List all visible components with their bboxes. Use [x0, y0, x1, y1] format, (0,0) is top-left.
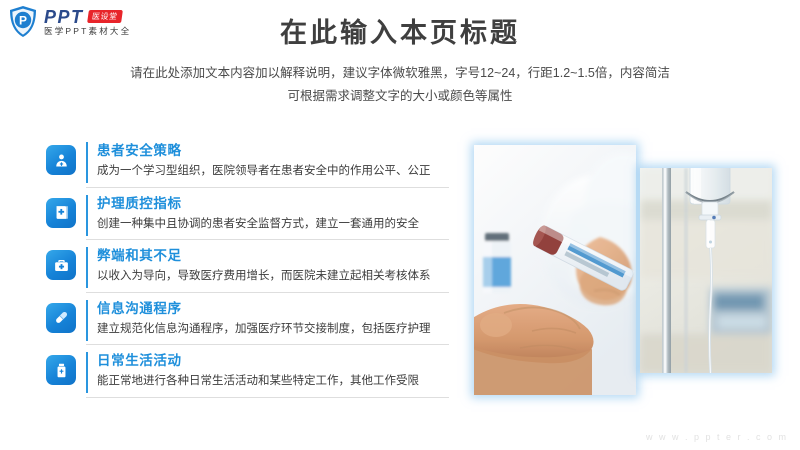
list-item-desc: 建立规范化信息沟通程序，加强医疗环节交接制度，包括医疗护理 — [97, 321, 451, 338]
list-item-desc: 能正常地进行各种日常生活活动和某些特定工作，其他工作受限 — [97, 373, 451, 390]
feature-list: 患者安全策略 成为一个学习型组织，医院领导者在患者安全中的作用公平、公正 护理质… — [46, 142, 451, 405]
list-item-body: 护理质控指标 创建一种集中且协调的患者安全监督方式，建立一套通用的安全 — [86, 195, 451, 236]
list-item[interactable]: 信息沟通程序 建立规范化信息沟通程序，加强医疗环节交接制度，包括医疗护理 — [46, 300, 451, 353]
slide-canvas: P PPT 医设堂 医学PPT素材大全 在此输入本页标题 请在此处添加文本内容加… — [0, 0, 800, 450]
list-item[interactable]: 弊端和其不足 以收入为导向，导致医疗费用增长，而医院未建立起相关考核体系 — [46, 247, 451, 300]
list-item-body: 信息沟通程序 建立规范化信息沟通程序，加强医疗环节交接制度，包括医疗护理 — [86, 300, 451, 341]
list-item-body: 弊端和其不足 以收入为导向，导致医疗费用增长，而医院未建立起相关考核体系 — [86, 247, 451, 288]
subtitle-line-1: 请在此处添加文本内容加以解释说明，建议字体微软雅黑，字号12~24，行距1.2~… — [100, 62, 700, 85]
medical-book-icon — [46, 198, 76, 228]
list-item-title: 患者安全策略 — [97, 142, 451, 160]
page-title: 在此输入本页标题 — [0, 17, 800, 49]
list-item-title: 信息沟通程序 — [97, 300, 451, 318]
list-item[interactable]: 护理质控指标 创建一种集中且协调的患者安全监督方式，建立一套通用的安全 — [46, 195, 451, 248]
list-item-divider — [86, 292, 449, 293]
list-item-body: 日常生活活动 能正常地进行各种日常生活活动和某些特定工作，其他工作受限 — [86, 352, 451, 393]
medical-kit-icon — [46, 250, 76, 280]
list-item-title: 日常生活活动 — [97, 352, 451, 370]
subtitle-line-2: 可根据需求调整文字的大小或颜色等属性 — [100, 85, 700, 108]
footer-watermark: w w w . p p t e r . c o m — [646, 432, 788, 442]
list-item-desc: 创建一种集中且协调的患者安全监督方式，建立一套通用的安全 — [97, 216, 451, 233]
list-item-divider — [86, 344, 449, 345]
doctor-icon — [46, 145, 76, 175]
blood-sample-photo — [474, 145, 636, 395]
iv-drip-photo — [640, 168, 772, 373]
list-item[interactable]: 患者安全策略 成为一个学习型组织，医院领导者在患者安全中的作用公平、公正 — [46, 142, 451, 195]
list-item-divider — [86, 397, 449, 398]
list-item[interactable]: 日常生活活动 能正常地进行各种日常生活活动和某些特定工作，其他工作受限 — [46, 352, 451, 405]
list-item-desc: 成为一个学习型组织，医院领导者在患者安全中的作用公平、公正 — [97, 163, 451, 180]
list-item-title: 弊端和其不足 — [97, 247, 451, 265]
list-item-desc: 以收入为导向，导致医疗费用增长，而医院未建立起相关考核体系 — [97, 268, 451, 285]
list-item-title: 护理质控指标 — [97, 195, 451, 213]
capsule-icon — [46, 303, 76, 333]
list-item-divider — [86, 187, 449, 188]
medicine-bottle-icon — [46, 355, 76, 385]
list-item-divider — [86, 239, 449, 240]
list-item-body: 患者安全策略 成为一个学习型组织，医院领导者在患者安全中的作用公平、公正 — [86, 142, 451, 183]
page-subtitle: 请在此处添加文本内容加以解释说明，建议字体微软雅黑，字号12~24，行距1.2~… — [100, 62, 700, 108]
